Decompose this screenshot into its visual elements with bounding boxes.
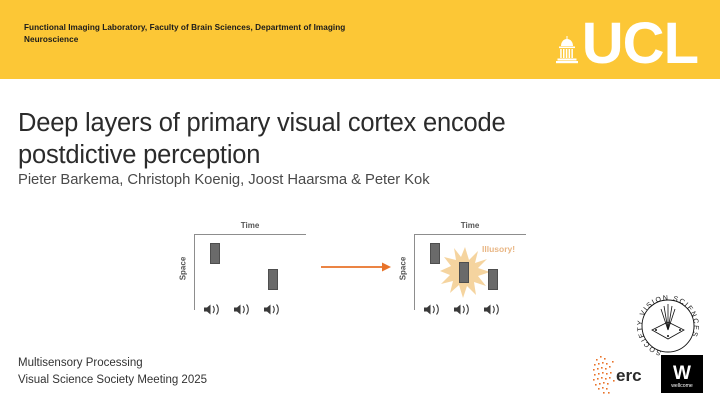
stimulus-bar — [488, 269, 498, 290]
y-axis-label: Space — [399, 247, 408, 291]
footer-text: Multisensory Processing Visual Science S… — [18, 355, 338, 390]
footer-line-2: Visual Science Society Meeting 2025 — [18, 372, 338, 389]
y-axis-line — [414, 234, 415, 310]
speaker-icon — [232, 303, 256, 316]
x-axis-line — [194, 234, 306, 235]
wellcome-mark: W — [673, 363, 691, 384]
erc-wordmark: erc — [616, 366, 642, 385]
stimulus-bar — [210, 243, 220, 264]
erc-logo: erc — [592, 353, 650, 395]
title-line-2: postdictive perception — [18, 141, 260, 169]
y-axis-line — [194, 234, 195, 310]
right-arrow-icon — [320, 260, 392, 274]
x-axis-label: Time — [414, 221, 526, 230]
stimulus-panel: Time Space — [176, 212, 316, 330]
page-title: Deep layers of primary visual cortex enc… — [18, 108, 628, 171]
speaker-icon — [452, 303, 476, 316]
figure: Time Space — [176, 212, 536, 330]
stimulus-bar — [268, 269, 278, 290]
speaker-icon — [202, 303, 226, 316]
footer-line-1: Multisensory Processing — [18, 355, 338, 372]
funder-logos: erc W wellcome — [592, 353, 706, 395]
affiliation-text: Functional Imaging Laboratory, Faculty o… — [24, 22, 354, 46]
x-axis-line — [414, 234, 526, 235]
wellcome-logo: W wellcome — [658, 353, 706, 395]
speaker-icon — [482, 303, 506, 316]
ucl-wordmark: UCL — [582, 20, 698, 68]
illusory-bar — [459, 262, 469, 283]
illusory-label: Illusory! — [482, 244, 515, 254]
presentation-slide: Functional Imaging Laboratory, Faculty o… — [0, 0, 720, 407]
speaker-icon — [262, 303, 286, 316]
y-axis-label: Space — [179, 247, 188, 291]
ucl-logo: UCL — [554, 20, 698, 68]
header-band: Functional Imaging Laboratory, Faculty o… — [0, 0, 720, 79]
x-axis-label: Time — [194, 221, 306, 230]
stimulus-bar — [430, 243, 440, 264]
percept-panel: Time Space Illusory! — [396, 212, 536, 330]
wellcome-wordmark: wellcome — [671, 383, 693, 389]
author-list: Pieter Barkema, Christoph Koenig, Joost … — [18, 172, 628, 188]
speaker-icon — [422, 303, 446, 316]
ucl-portico-icon — [554, 35, 580, 65]
title-line-1: Deep layers of primary visual cortex enc… — [18, 109, 505, 137]
vision-sciences-society-logo: SOCIETY VISION SCIENCES — [634, 292, 702, 360]
